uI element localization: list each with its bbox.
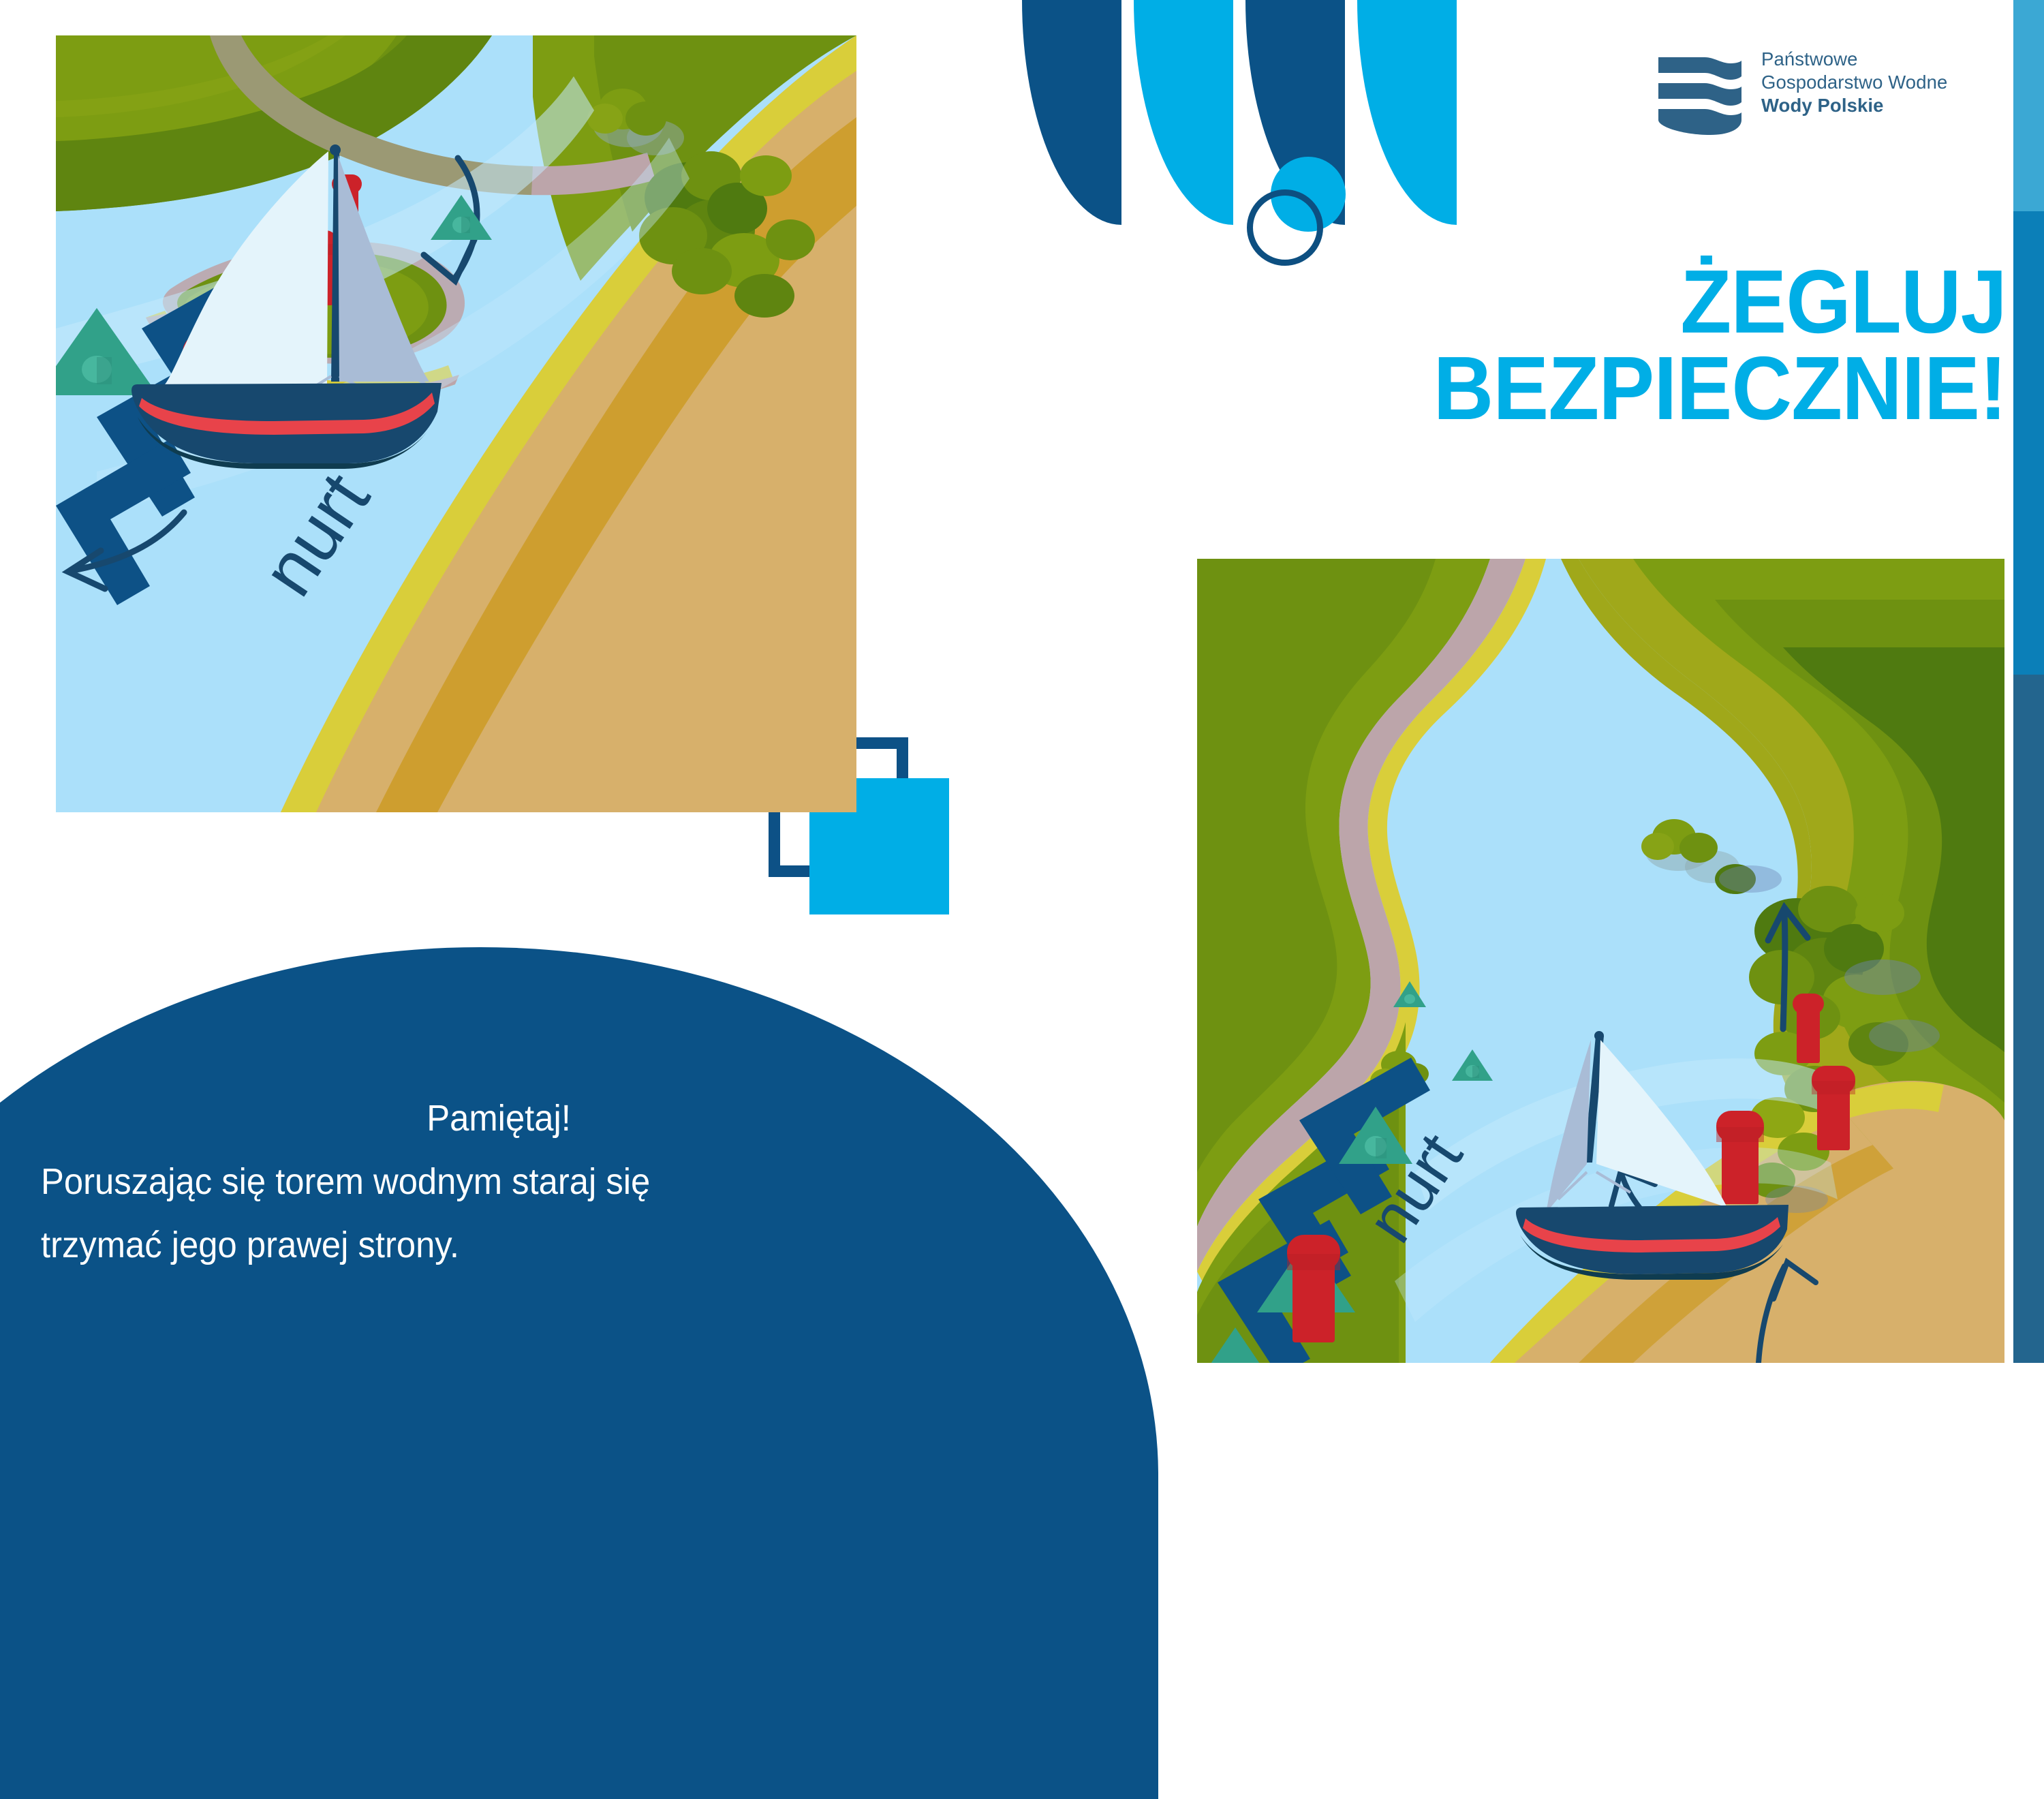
organization-logo: Państwowe Gospodarstwo Wodne Wody Polski… [1656,48,1983,143]
edge-bar-segment-middle [2013,211,2044,675]
logo-line-2: Gospodarstwo Wodne [1761,71,1986,94]
wave-shield-icon [1656,52,1744,137]
message-line-2: trzymać jego prawej strony. [41,1214,957,1277]
headline-line-2: BEZPIECZNIE! [929,345,2007,432]
message-title: Pamiętaj! [41,1087,957,1150]
circle-decoration [1247,157,1383,273]
message-text: Pamiętaj! Poruszając się torem wodnym st… [41,1087,957,1277]
river-wrong-side-illustration: nurt [56,35,856,812]
petal-2-cyan [1134,0,1233,225]
edge-bar-segment-top [2013,0,2044,211]
logo-line-3: Wody Polskie [1761,94,1986,117]
logo-wordmark: Państwowe Gospodarstwo Wodne Wody Polski… [1761,48,1986,117]
logo-line-1: Państwowe [1761,48,1986,71]
edge-bar-segment-bottom [2013,675,2044,1363]
petal-1-dark [1022,0,1121,225]
page-title: ŻEGLUJ BEZPIECZNIE! [929,259,2007,431]
river-right-side-illustration: nurt [1197,559,2004,1363]
edge-color-bar [2013,0,2044,1363]
message-line-1: Poruszając się torem wodnym staraj się [41,1150,957,1214]
navy-ring-circle-icon [1247,189,1323,266]
message-panel [0,947,1158,1799]
headline-line-1: ŻEGLUJ [929,259,2007,345]
